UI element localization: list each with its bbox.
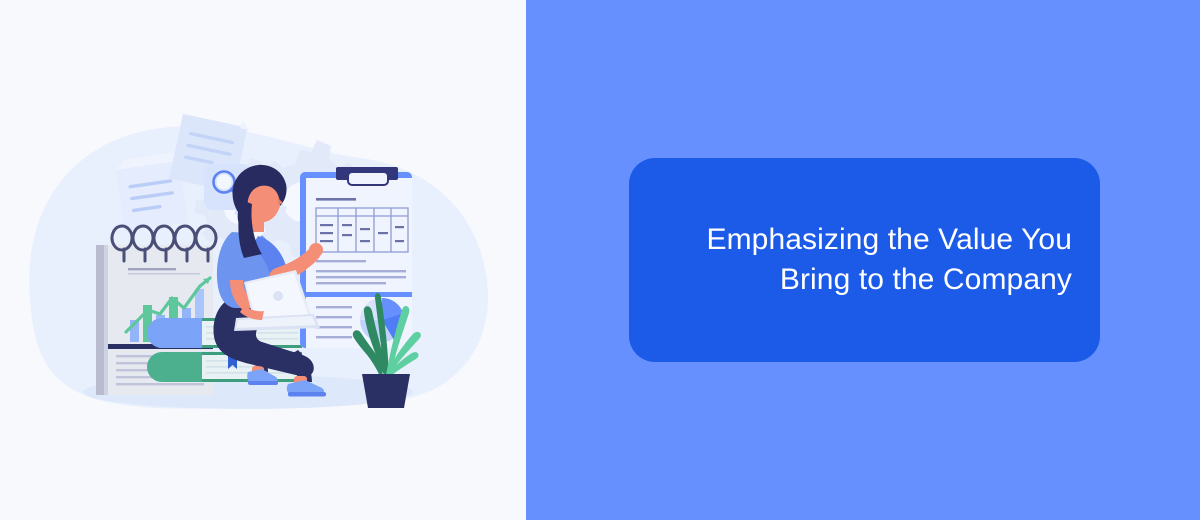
- title-card: Emphasizing the Value You Bring to the C…: [629, 158, 1100, 362]
- illustration-panel: [0, 0, 526, 520]
- plant-pot: [362, 374, 410, 408]
- workspace-illustration: [0, 0, 526, 520]
- title-panel: Emphasizing the Value You Bring to the C…: [526, 0, 1200, 520]
- promo-banner: Emphasizing the Value You Bring to the C…: [0, 0, 1200, 520]
- page-title: Emphasizing the Value You Bring to the C…: [676, 220, 1100, 300]
